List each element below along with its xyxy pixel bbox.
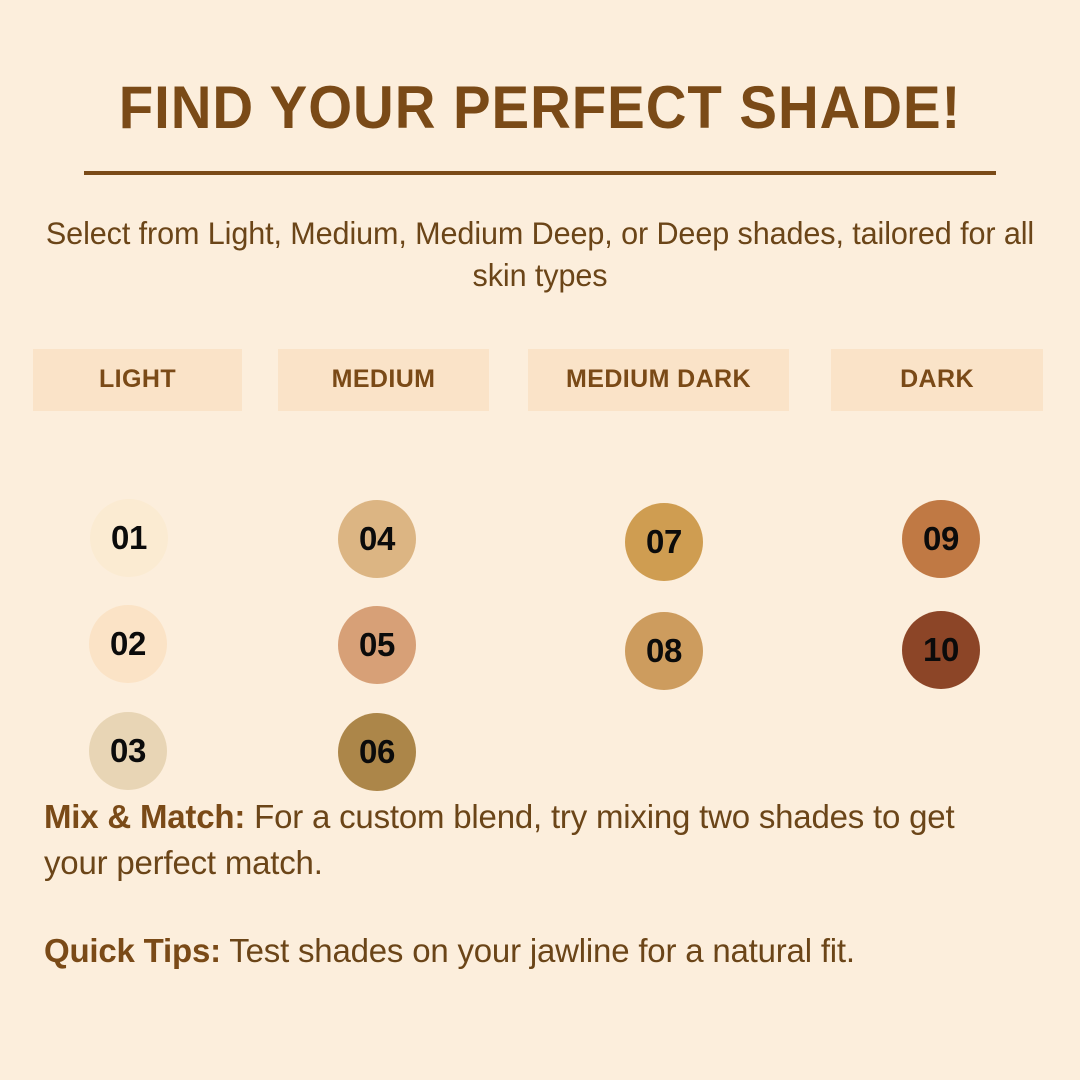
shade-code-label: 08 xyxy=(646,632,682,670)
shade-swatch-02[interactable]: 02 xyxy=(89,605,167,683)
shade-column-light: LIGHT 010203 xyxy=(33,349,242,411)
shade-grid: LIGHT 010203 MEDIUM 040506 MEDIUM DARK 0… xyxy=(0,349,1080,769)
shade-swatch-03[interactable]: 03 xyxy=(89,712,167,790)
page-header: FIND YOUR PERFECT SHADE! Select from Lig… xyxy=(0,0,1080,297)
shade-swatch-05[interactable]: 05 xyxy=(338,606,416,684)
shade-code-label: 10 xyxy=(923,631,959,669)
shade-finder-page: { "page": { "background_color": "#FCEEDC… xyxy=(0,0,1080,1080)
tip-heading: Mix & Match: xyxy=(44,799,245,836)
column-header-medium: MEDIUM xyxy=(278,349,489,411)
shade-swatch-08[interactable]: 08 xyxy=(625,612,703,690)
shade-column-medium: MEDIUM 040506 xyxy=(278,349,489,411)
shade-column-dark: DARK 0910 xyxy=(831,349,1043,411)
shade-swatch-07[interactable]: 07 xyxy=(625,503,703,581)
shade-swatch-01[interactable]: 01 xyxy=(90,499,168,577)
tip-heading: Quick Tips: xyxy=(44,933,221,970)
tip-quick-tips: Quick Tips: Test shades on your jawline … xyxy=(44,929,1021,975)
shade-code-label: 07 xyxy=(646,523,682,561)
shade-swatch-06[interactable]: 06 xyxy=(338,713,416,791)
shade-code-label: 09 xyxy=(923,520,959,558)
column-header-dark: DARK xyxy=(831,349,1043,411)
column-header-medium-dark: MEDIUM DARK xyxy=(528,349,789,411)
tip-mix-and-match: Mix & Match: For a custom blend, try mix… xyxy=(44,795,1021,887)
tips-section: Mix & Match: For a custom blend, try mix… xyxy=(44,795,1036,975)
shade-swatch-04[interactable]: 04 xyxy=(338,500,416,578)
shade-code-label: 02 xyxy=(110,625,146,663)
shade-swatch-10[interactable]: 10 xyxy=(902,611,980,689)
page-title: FIND YOUR PERFECT SHADE! xyxy=(32,78,1047,138)
column-header-light: LIGHT xyxy=(33,349,242,411)
shade-swatch-09[interactable]: 09 xyxy=(902,500,980,578)
shade-code-label: 01 xyxy=(111,519,147,557)
title-underline-rule xyxy=(84,171,996,175)
tip-body: Test shades on your jawline for a natura… xyxy=(221,933,855,970)
page-subtitle: Select from Light, Medium, Medium Deep, … xyxy=(16,213,1064,297)
shade-column-medium-dark: MEDIUM DARK 0708 xyxy=(528,349,789,411)
shade-code-label: 05 xyxy=(359,626,395,664)
shade-code-label: 04 xyxy=(359,520,395,558)
shade-code-label: 06 xyxy=(359,733,395,771)
shade-code-label: 03 xyxy=(110,732,146,770)
